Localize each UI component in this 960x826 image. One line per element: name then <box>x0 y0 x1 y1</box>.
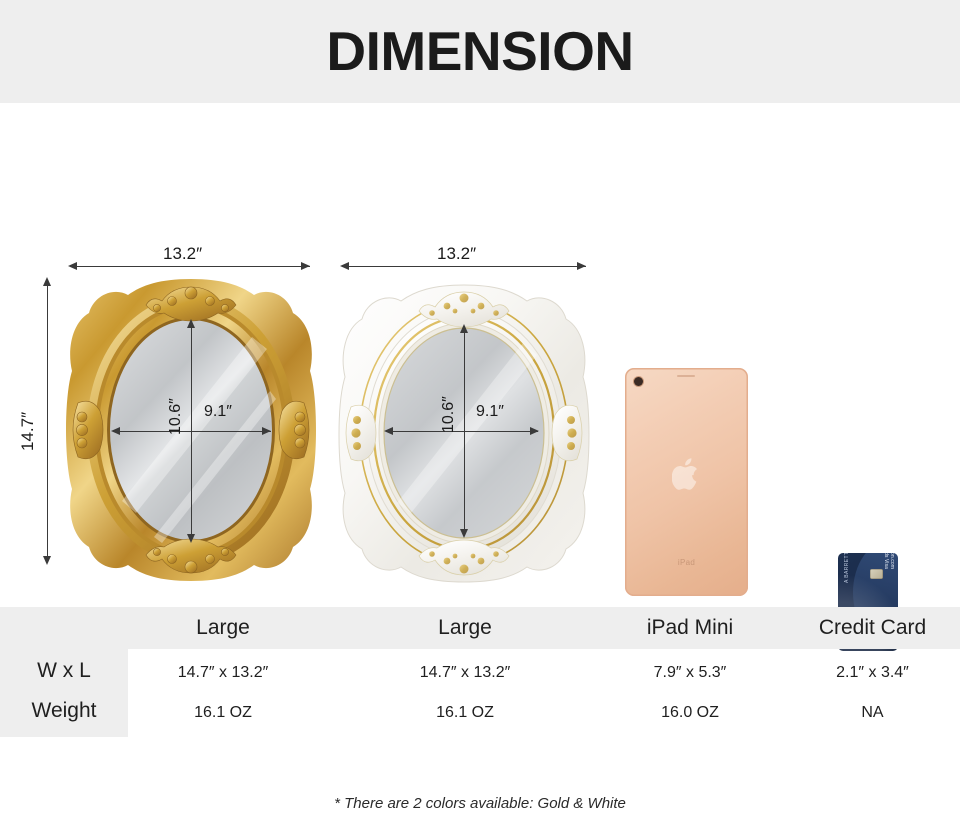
gold-mirror-width-line <box>70 266 310 267</box>
white-mirror-width-arrow-left <box>340 262 349 270</box>
apple-logo-icon <box>672 456 702 497</box>
white-mirror-inner-height-arrow-bottom <box>460 529 468 538</box>
table-cell-wl-3: 2.1″ x 3.4″ <box>785 664 960 682</box>
specification-table: Large Large iPad Mini Credit Card W x L … <box>0 607 960 737</box>
product-comparison-stage: 13.2″ 14.7″ <box>0 103 960 607</box>
gold-mirror-width-arrow-left <box>68 262 77 270</box>
ipad-wordmark: iPad <box>625 558 748 567</box>
table-column-header-1: Large <box>370 616 560 640</box>
dimension-infographic: DIMENSION 13.2″ 14.7″ <box>0 0 960 826</box>
gold-mirror-inner-height-arrow-top <box>187 319 195 328</box>
table-column-header-2: iPad Mini <box>600 616 780 640</box>
table-cell-weight-3: NA <box>785 704 960 722</box>
ipad-camera-icon <box>634 377 643 386</box>
white-mirror-inner-height-line <box>464 330 465 532</box>
table-cell-wl-0: 14.7″ x 13.2″ <box>128 664 318 682</box>
table-cell-wl-2: 7.9″ x 5.3″ <box>600 664 780 682</box>
ipad-microphone-icon <box>677 375 695 377</box>
header-banner: DIMENSION <box>0 0 960 103</box>
gold-mirror-width-arrow-right <box>301 262 310 270</box>
gold-mirror-height-line <box>47 283 48 559</box>
gold-mirror-inner-width-line <box>113 431 271 432</box>
white-mirror-width-label: 13.2″ <box>437 244 476 264</box>
page-title: DIMENSION <box>326 24 633 79</box>
table-column-header-3: Credit Card <box>785 616 960 640</box>
table-cell-weight-2: 16.0 OZ <box>600 704 780 722</box>
color-availability-note: * There are 2 colors available: Gold & W… <box>0 795 960 812</box>
gold-mirror-height-label: 14.7″ <box>18 412 38 451</box>
card-brand-mark: amazon.com Rewards Visa <box>883 553 896 569</box>
table-row-label-0: W x L <box>0 659 128 683</box>
gold-mirror-width-label: 13.2″ <box>163 244 202 264</box>
white-mirror-inner-height-label: 10.6″ <box>440 396 458 433</box>
card-brand-line-2: Rewards Visa <box>883 553 889 569</box>
gold-mirror-inner-width-label: 9.1″ <box>204 403 232 421</box>
card-chip-icon <box>870 569 883 579</box>
gold-mirror-height-arrow-top <box>43 277 51 286</box>
gold-mirror-inner-height-label: 10.6″ <box>167 398 185 435</box>
white-mirror-inner-width-label: 9.1″ <box>476 403 504 421</box>
white-mirror-inner-width-arrow-right <box>530 427 539 435</box>
table-column-header-0: Large <box>128 616 318 640</box>
table-cell-weight-0: 16.1 OZ <box>128 704 318 722</box>
table-row-label-1: Weight <box>0 699 128 723</box>
card-brand-line-1: amazon.com <box>889 553 895 569</box>
card-holder-name: A BARRETT <box>844 553 850 583</box>
gold-mirror-inner-width-arrow-right <box>262 427 271 435</box>
gold-mirror-inner-height-arrow-bottom <box>187 534 195 543</box>
gold-mirror-height-arrow-bottom <box>43 556 51 565</box>
table-cell-weight-1: 16.1 OZ <box>370 704 560 722</box>
gold-mirror-inner-width-arrow-left <box>111 427 120 435</box>
gold-mirror-inner-height-line <box>191 325 192 537</box>
white-mirror-width-line <box>342 266 586 267</box>
white-mirror-width-arrow-right <box>577 262 586 270</box>
table-cell-wl-1: 14.7″ x 13.2″ <box>370 664 560 682</box>
white-mirror-inner-width-line <box>386 431 538 432</box>
ipad-mini-device: iPad <box>625 368 748 596</box>
white-mirror-inner-height-arrow-top <box>460 324 468 333</box>
white-mirror-inner-width-arrow-left <box>384 427 393 435</box>
